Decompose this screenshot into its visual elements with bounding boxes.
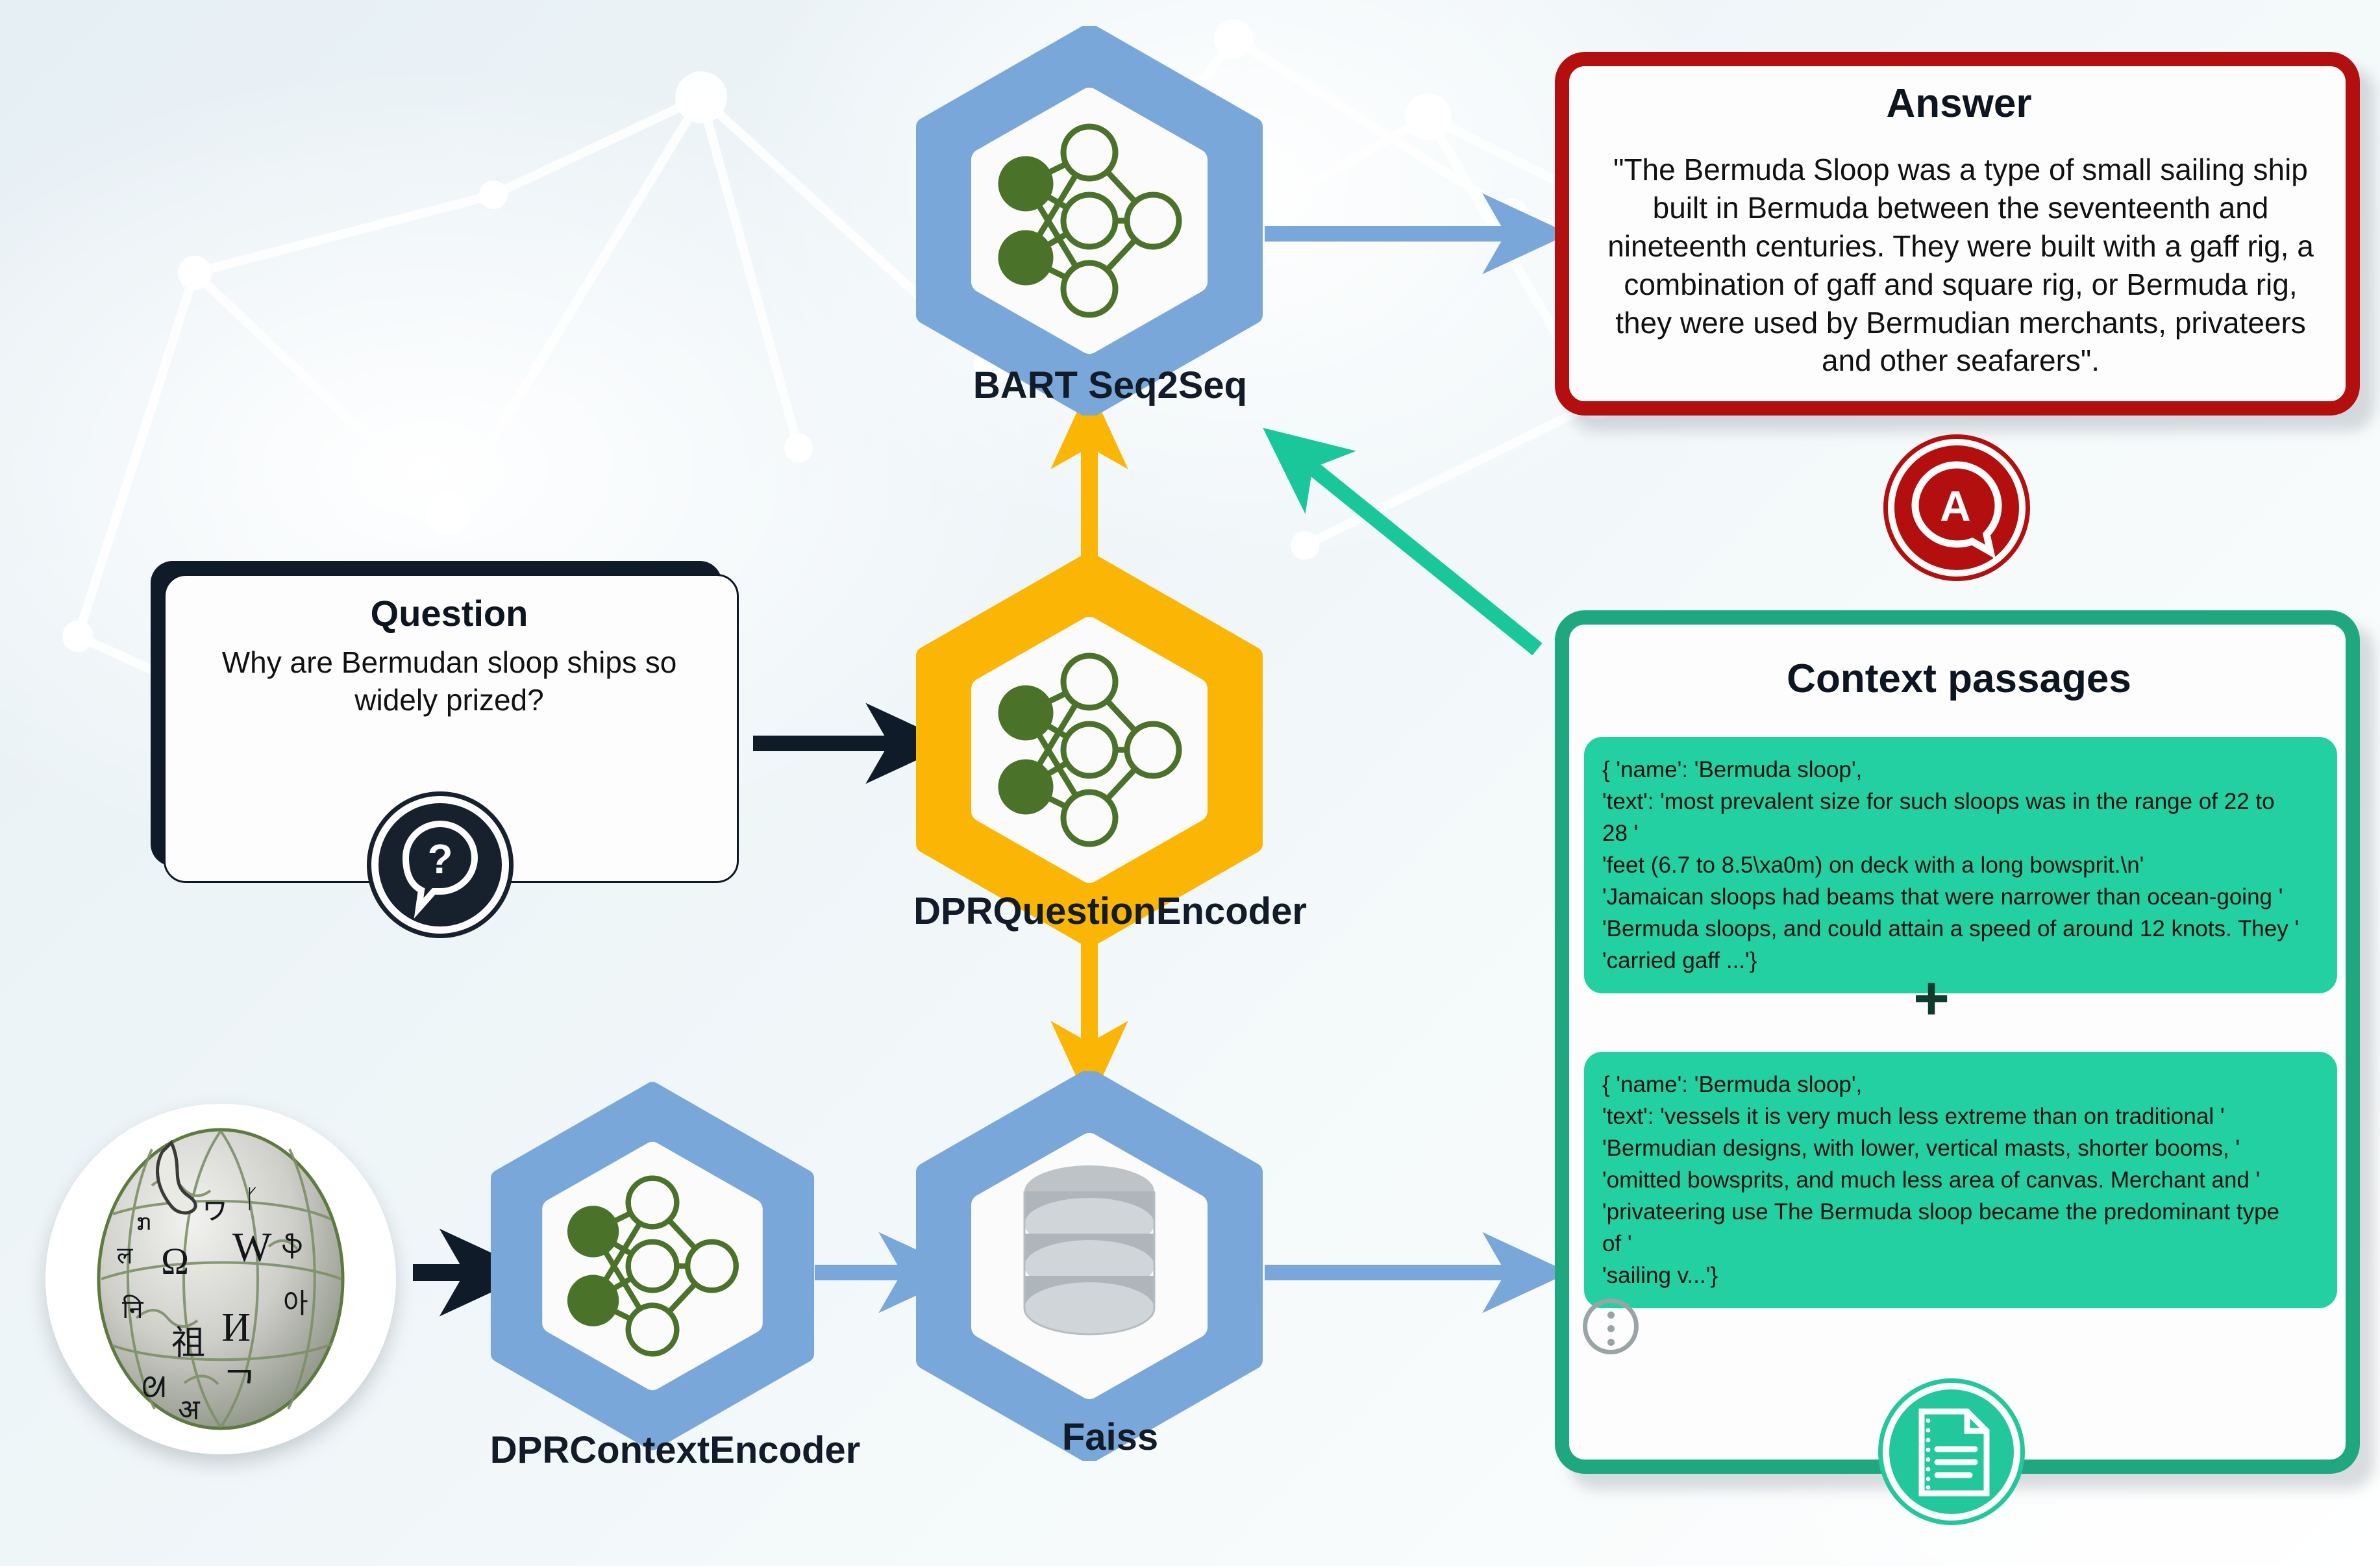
database-icon: [1024, 1165, 1154, 1334]
node-bart-seq2seq[interactable]: [915, 26, 1263, 416]
svg-text:И: И: [221, 1305, 251, 1349]
svg-text:अ: अ: [178, 1394, 201, 1426]
node-label-dprcontextencoder: DPRContextEncoder: [331, 1428, 1019, 1472]
question-mark-speech-bubble-icon: ?: [378, 803, 502, 926]
svg-text:नि: नि: [122, 1295, 143, 1324]
node-faiss[interactable]: [915, 1071, 1263, 1461]
passage-plus-separator: +: [1902, 969, 1961, 1028]
svg-text:ᘛ: ᘛ: [142, 1372, 166, 1404]
node-dprquestionencoder[interactable]: [915, 555, 1263, 945]
answer-card-title: Answer: [1578, 81, 2340, 127]
svg-text:ֆ: ֆ: [282, 1230, 303, 1259]
answer-badge-letter: A: [1940, 482, 1971, 530]
node-label-dprquestionencoder: DPRQuestionEncoder: [760, 889, 1461, 933]
answer-badge: A: [1888, 439, 2026, 577]
context-passage-item[interactable]: { 'name': 'Bermuda sloop', 'text': 'vess…: [1584, 1052, 2337, 1308]
svg-text:ल: ल: [117, 1243, 133, 1269]
question-card-text: Why are Bermudan sloop ships so widely p…: [190, 644, 709, 719]
svg-text:ヮ: ヮ: [200, 1191, 230, 1224]
node-label-bart: BART Seq2Seq: [837, 364, 1383, 407]
svg-text:ᄀ: ᄀ: [222, 1365, 256, 1407]
wikipedia-globe-icon: ヮ ᚴ ֆ 아 W Ω И 祖 ᄀ ᘛ अ नि ल ກ: [74, 1123, 367, 1435]
svg-text:W: W: [232, 1224, 272, 1270]
answer-card-text: "The Bermuda Sloop was a type of small s…: [1604, 151, 2318, 380]
context-card-title: Context passages: [1578, 656, 2340, 702]
svg-text:祖: 祖: [171, 1325, 205, 1362]
question-badge: ?: [371, 796, 509, 934]
svg-text:?: ?: [427, 836, 452, 882]
answer-speech-bubble-icon: A: [1894, 445, 2019, 570]
question-card-title: Question: [164, 592, 735, 634]
context-badge: [1883, 1383, 2020, 1521]
arrow-context-to-bart: [1292, 451, 1537, 649]
svg-text:ᚴ: ᚴ: [244, 1184, 260, 1213]
svg-text:아: 아: [283, 1289, 308, 1319]
svg-text:ກ: ກ: [136, 1211, 151, 1235]
node-dprcontextencoder[interactable]: [490, 1078, 815, 1454]
wikipedia-source[interactable]: ヮ ᚴ ֆ 아 W Ω И 祖 ᄀ ᘛ अ नि ल ກ: [45, 1104, 396, 1454]
svg-text:Ω: Ω: [161, 1240, 189, 1282]
vertical-ellipsis-icon[interactable]: [1583, 1299, 1639, 1354]
context-passage-item[interactable]: { 'name': 'Bermuda sloop', 'text': 'most…: [1584, 737, 2337, 993]
document-icon: [1889, 1389, 2014, 1514]
